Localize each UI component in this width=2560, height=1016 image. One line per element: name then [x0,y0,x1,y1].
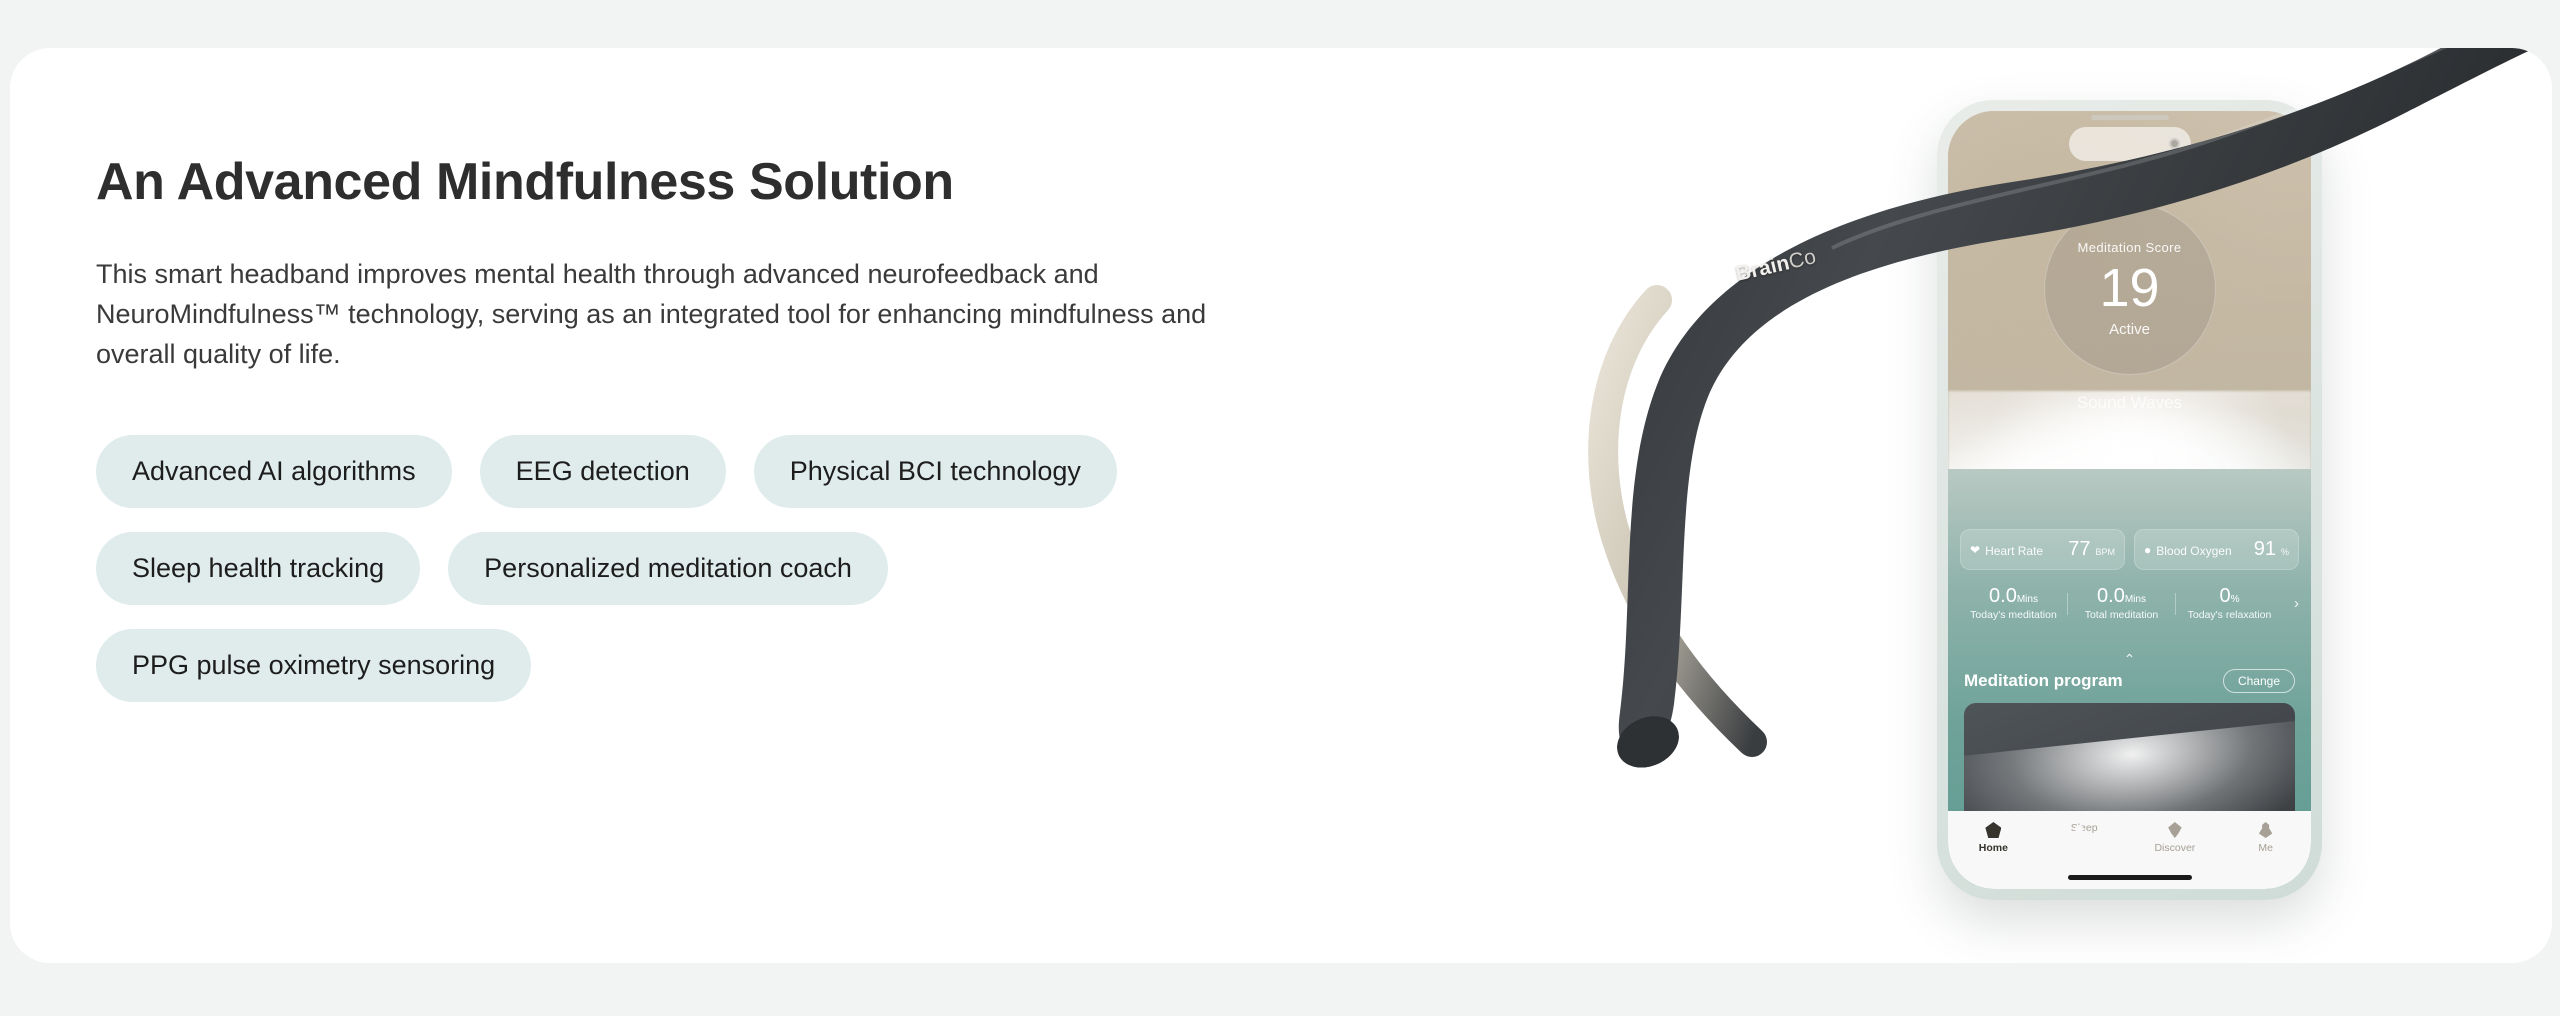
phone-screen: Meditation Score 19 Active Sound Waves ❤… [1948,111,2311,889]
chevron-up-icon[interactable]: ⌃ [1948,651,2311,668]
meditation-score-ring[interactable]: Meditation Score 19 Active [2044,203,2216,375]
meditation-program-card[interactable] [1964,703,2295,825]
discover-icon [2167,822,2183,838]
tab-label-home: Home [1979,842,2008,854]
feature-card: An Advanced Mindfulness Solution This sm… [10,48,2552,963]
description-paragraph: This smart headband improves mental heal… [96,255,1276,375]
vital-value-blood-oxygen: 91 [2254,538,2276,561]
page-title: An Advanced Mindfulness Solution [96,152,1416,213]
vital-unit-blood-oxygen: % [2281,547,2289,557]
braincol-logo: BrainCo [1733,245,1818,287]
front-camera-icon [2169,138,2180,149]
feature-chip-ppg-pulse-oximetry-sensoring[interactable]: PPG pulse oximetry sensoring [96,629,531,702]
stat-value-today-meditation: 0.0 [1989,585,2017,607]
dynamic-island [2069,127,2191,161]
stat-unit-today-relaxation: % [2231,594,2240,605]
chevron-right-icon[interactable]: › [2283,595,2299,612]
brand-name: Brain [1733,251,1791,286]
feature-chip-list: Advanced AI algorithms EEG detection Phy… [96,435,1316,702]
meditation-program-header: Meditation program Change [1964,669,2295,693]
stat-caption-today-relaxation: Today's relaxation [2176,609,2283,622]
home-indicator [2068,875,2192,880]
feature-chip-eeg-detection[interactable]: EEG detection [480,435,726,508]
meditation-score-label: Meditation Score [2078,240,2182,255]
content-column: An Advanced Mindfulness Solution This sm… [96,152,1416,702]
tab-label-discover: Discover [2154,842,2195,854]
stat-unit-total-meditation: Mins [2125,594,2146,605]
product-hero-image: Meditation Score 19 Active Sound Waves ❤… [1452,48,2552,963]
stat-value-today-relaxation: 0 [2219,585,2230,607]
stat-caption-today-meditation: Today's meditation [1960,609,2067,622]
change-program-button[interactable]: Change [2223,669,2295,693]
vital-value-heart-rate: 77 [2068,538,2090,561]
stats-strip[interactable]: 0.0Mins Today's meditation 0.0Mins Total… [1960,585,2299,622]
stat-value-total-meditation: 0.0 [2097,585,2125,607]
tab-label-me: Me [2258,842,2273,854]
meditation-score-value: 19 [2099,257,2159,319]
feature-chip-advanced-ai-algorithms[interactable]: Advanced AI algorithms [96,435,452,508]
vital-card-blood-oxygen[interactable]: ● Blood Oxygen 91 % [2134,529,2299,570]
feature-chip-sleep-health-tracking[interactable]: Sleep health tracking [96,532,420,605]
stat-caption-total-meditation: Total meditation [2068,609,2175,622]
vital-name-blood-oxygen: Blood Oxygen [2156,544,2231,558]
tab-me[interactable]: Me [2220,822,2311,854]
home-icon [1985,822,2001,838]
headband-tip [1609,707,1687,777]
brand-name-suffix: Co [1787,245,1819,274]
sound-waves-title: Sound Waves [1948,393,2311,413]
stat-total-meditation: 0.0Mins Total meditation [2068,585,2175,622]
meditation-score-state: Active [2109,321,2150,338]
heart-icon: ❤ [1970,544,1980,556]
tab-home[interactable]: Home [1948,822,2039,854]
blood-drop-icon: ● [2144,544,2151,556]
stat-today-relaxation: 0% Today's relaxation [2176,585,2283,622]
meditation-program-title: Meditation program [1964,671,2123,691]
vital-unit-heart-rate: BPM [2095,547,2115,557]
me-icon [2258,822,2274,838]
tab-sleep[interactable]: Sleep [2039,822,2130,834]
feature-chip-personalized-meditation-coach[interactable]: Personalized meditation coach [448,532,888,605]
vital-name-heart-rate: Heart Rate [1985,544,2043,558]
stat-today-meditation: 0.0Mins Today's meditation [1960,585,2067,622]
feature-chip-physical-bci-technology[interactable]: Physical BCI technology [754,435,1117,508]
earpiece-speaker [2091,115,2169,120]
vital-card-heart-rate[interactable]: ❤ Heart Rate 77 BPM [1960,529,2125,570]
tab-discover[interactable]: Discover [2130,822,2221,854]
vitals-row: ❤ Heart Rate 77 BPM ● Blood Oxygen 91 % [1960,529,2299,570]
stat-unit-today-meditation: Mins [2017,594,2038,605]
phone-mockup: Meditation Score 19 Active Sound Waves ❤… [1937,100,2322,900]
play-icon[interactable] [2112,429,2148,465]
headband-inner-strap [1603,300,1752,742]
